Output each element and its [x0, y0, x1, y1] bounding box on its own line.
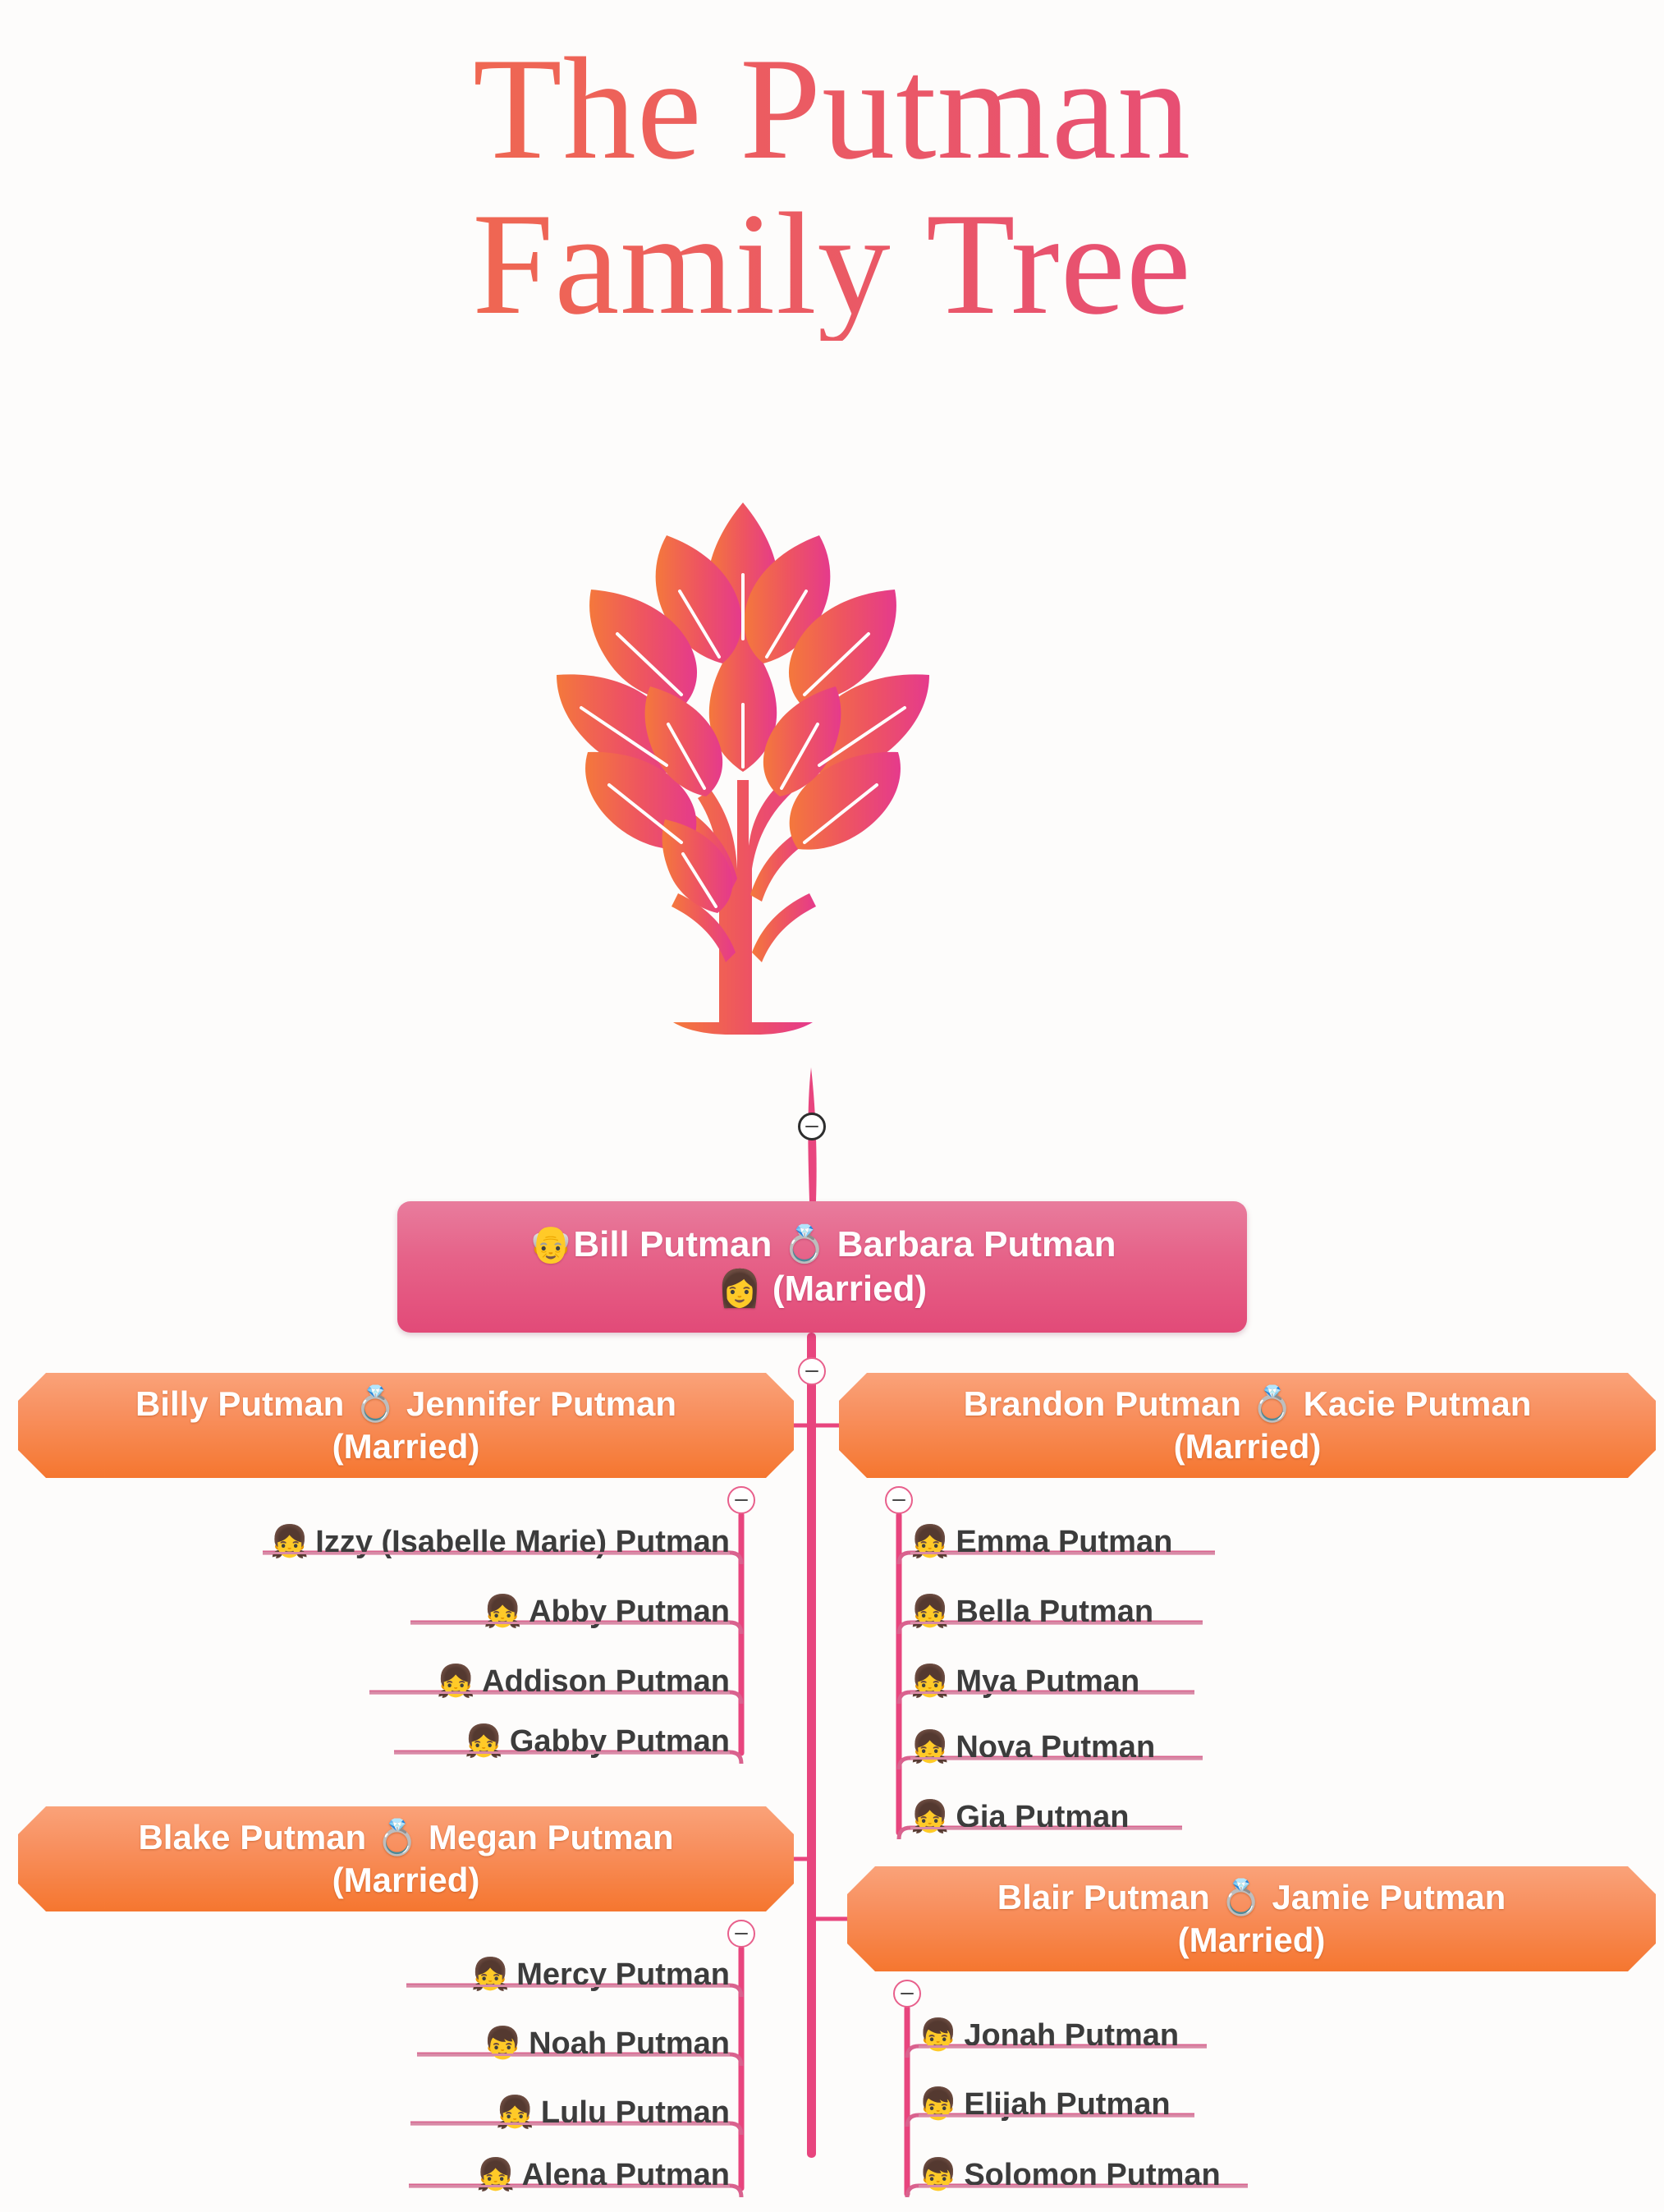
child-row[interactable]: 👧 Abby Putman [328, 1581, 730, 1643]
child-underline [919, 2185, 1248, 2187]
collapse-toggle-brandon-children[interactable] [885, 1486, 913, 1514]
child-row[interactable]: 👧 Lulu Putman [324, 2081, 730, 2144]
child-underline [406, 1985, 730, 1987]
child-underline [394, 1751, 730, 1754]
child-underline [417, 2054, 730, 2056]
collapse-toggle-generation-2[interactable] [798, 1357, 826, 1385]
family-tree-canvas: The Putman Family Tree [0, 0, 1664, 2212]
family-label-line-1: Billy Putman 💍 Jennifer Putman [135, 1383, 676, 1426]
child-underline [409, 2185, 730, 2187]
child-underline [919, 2045, 1207, 2048]
child-name: Addison Putman [482, 1664, 730, 1700]
child-name: Mercy Putman [516, 1957, 730, 1993]
child-name: Elijah Putman [964, 2087, 1170, 2123]
root-line-2: 👩 (Married) [717, 1267, 927, 1311]
child-underline [410, 1622, 730, 1624]
family-label-line-2: (Married) [1178, 1919, 1326, 1962]
title-line-1: The Putman [0, 31, 1664, 186]
child-name: Alena Putman [522, 2158, 730, 2193]
child-name: Emma Putman [956, 1525, 1172, 1560]
child-name: Abby Putman [529, 1595, 730, 1630]
page-title: The Putman Family Tree [0, 31, 1664, 341]
child-row[interactable]: 👦 Jonah Putman [919, 2004, 1411, 2067]
family-label-line-1: Brandon Putman 💍 Kacie Putman [964, 1383, 1532, 1426]
child-row[interactable]: 👧 Izzy (Isabelle Marie) Putman [164, 1511, 730, 1573]
child-name: Gabby Putman [510, 1724, 730, 1760]
child-underline [263, 1552, 730, 1554]
child-row[interactable]: 👧 Alena Putman [320, 2144, 730, 2206]
child-row[interactable]: 👧 Mya Putman [910, 1650, 1403, 1713]
child-row[interactable]: 👧 Emma Putman [910, 1511, 1403, 1573]
child-row[interactable]: 👧 Addison Putman [287, 1650, 730, 1713]
collapse-toggle-blake-children[interactable] [727, 1920, 755, 1948]
child-underline [910, 1691, 1194, 1694]
title-line-2: Family Tree [0, 186, 1664, 342]
child-row[interactable]: 👧 Gia Putman [910, 1786, 1403, 1848]
family-tree-logo [542, 493, 944, 1067]
family-label-line-1: Blair Putman 💍 Jamie Putman [997, 1876, 1506, 1920]
child-row[interactable]: 👦 Noah Putman [328, 2012, 730, 2075]
child-underline [410, 2123, 730, 2125]
family-label-line-2: (Married) [1174, 1425, 1322, 1469]
child-row[interactable]: 👧 Nova Putman [910, 1716, 1403, 1778]
child-underline [910, 1622, 1203, 1624]
family-node-billy-jennifer[interactable]: Billy Putman 💍 Jennifer Putman (Married) [18, 1373, 794, 1478]
child-underline [910, 1552, 1215, 1554]
child-underline [910, 1757, 1203, 1760]
collapse-toggle-root[interactable] [798, 1113, 826, 1140]
child-name: Lulu Putman [541, 2095, 730, 2131]
family-label-line-1: Blake Putman 💍 Megan Putman [138, 1816, 673, 1860]
child-row[interactable]: 👦 Solomon Putman [919, 2144, 1411, 2206]
family-node-blake-megan[interactable]: Blake Putman 💍 Megan Putman (Married) [18, 1806, 794, 1911]
child-name: Bella Putman [956, 1595, 1153, 1630]
child-name: Nova Putman [956, 1730, 1155, 1765]
child-name: Solomon Putman [964, 2158, 1220, 2193]
child-name: Mya Putman [956, 1664, 1139, 1700]
family-node-brandon-kacie[interactable]: Brandon Putman 💍 Kacie Putman (Married) [839, 1373, 1656, 1478]
family-label-line-2: (Married) [332, 1859, 480, 1902]
collapse-toggle-billy-children[interactable] [727, 1486, 755, 1514]
root-line-1: 👴Bill Putman 💍 Barbara Putman [529, 1223, 1116, 1267]
family-label-line-2: (Married) [332, 1425, 480, 1469]
child-row[interactable]: 👧 Mercy Putman [320, 1944, 730, 2006]
child-name: Jonah Putman [964, 2018, 1179, 2054]
child-row[interactable]: 👦 Elijah Putman [919, 2073, 1411, 2136]
child-name: Noah Putman [529, 2026, 730, 2062]
child-underline [910, 1827, 1182, 1829]
child-underline [919, 2114, 1194, 2117]
collapse-toggle-blair-children[interactable] [893, 1980, 921, 2008]
root-couple-node[interactable]: 👴Bill Putman 💍 Barbara Putman 👩 (Married… [397, 1201, 1247, 1333]
child-name: Gia Putman [956, 1800, 1129, 1835]
child-name: Izzy (Isabelle Marie) Putman [315, 1525, 730, 1560]
child-row[interactable]: 👧 Bella Putman [910, 1581, 1403, 1643]
family-node-blair-jamie[interactable]: Blair Putman 💍 Jamie Putman (Married) [847, 1866, 1656, 1971]
child-row[interactable]: 👧 Gabby Putman [312, 1710, 730, 1773]
child-underline [369, 1691, 730, 1694]
